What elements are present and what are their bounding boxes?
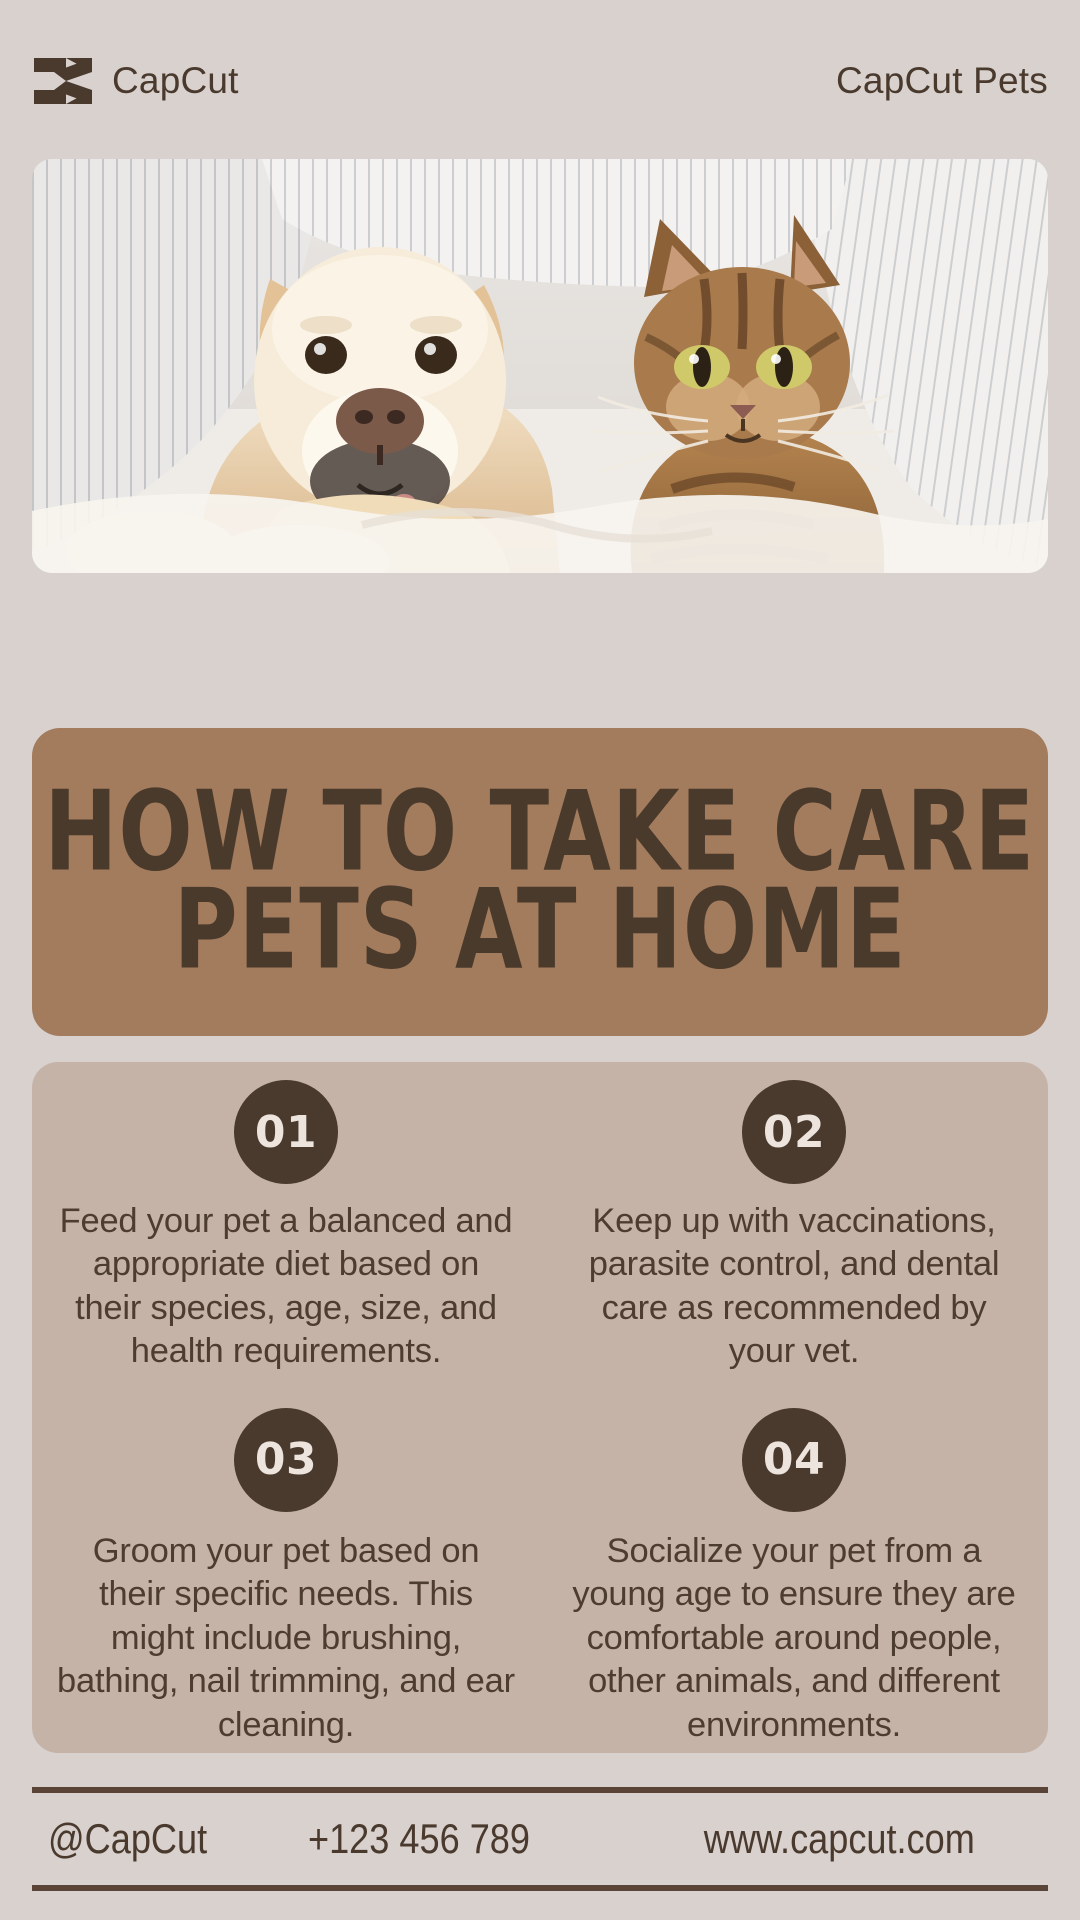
capcut-logo-icon bbox=[32, 52, 94, 110]
title-banner: HOW TO TAKE CARE PETS AT HOME bbox=[32, 728, 1048, 1036]
footer-phone[interactable]: +123 456 789 bbox=[308, 1815, 626, 1863]
tip-text: Feed your pet a balanced and appropriate… bbox=[56, 1200, 516, 1374]
tip-item-03: 03 Groom your pet based on their specifi… bbox=[32, 1390, 540, 1753]
tip-number-badge: 03 bbox=[234, 1408, 338, 1512]
tip-number-badge: 02 bbox=[742, 1080, 846, 1184]
tip-text: Socialize your pet from a young age to e… bbox=[564, 1530, 1024, 1747]
footer-social-handle[interactable]: @CapCut bbox=[48, 1815, 272, 1863]
footer-website[interactable]: www.capcut.com bbox=[678, 1815, 982, 1863]
tip-number-badge: 04 bbox=[742, 1408, 846, 1512]
tip-item-02: 02 Keep up with vaccinations, parasite c… bbox=[540, 1062, 1048, 1390]
footer-contact-bar: @CapCut +123 456 789 www.capcut.com bbox=[32, 1787, 1048, 1891]
tip-text: Keep up with vaccinations, parasite cont… bbox=[564, 1200, 1024, 1374]
tip-item-01: 01 Feed your pet a balanced and appropri… bbox=[32, 1062, 540, 1390]
infographic-poster: CapCut CapCut Pets bbox=[0, 0, 1080, 1920]
tip-number-badge: 01 bbox=[234, 1080, 338, 1184]
title-line-2: PETS AT HOME bbox=[173, 874, 906, 987]
tips-card: 01 Feed your pet a balanced and appropri… bbox=[32, 1062, 1048, 1753]
hero-photo bbox=[32, 159, 1048, 573]
page-header: CapCut CapCut Pets bbox=[32, 50, 1048, 112]
header-right-label: CapCut Pets bbox=[836, 60, 1048, 102]
brand-lockup[interactable]: CapCut bbox=[32, 52, 239, 110]
tip-text: Groom your pet based on their specific n… bbox=[56, 1530, 516, 1747]
brand-name: CapCut bbox=[112, 60, 239, 102]
tip-item-04: 04 Socialize your pet from a young age t… bbox=[540, 1390, 1048, 1753]
